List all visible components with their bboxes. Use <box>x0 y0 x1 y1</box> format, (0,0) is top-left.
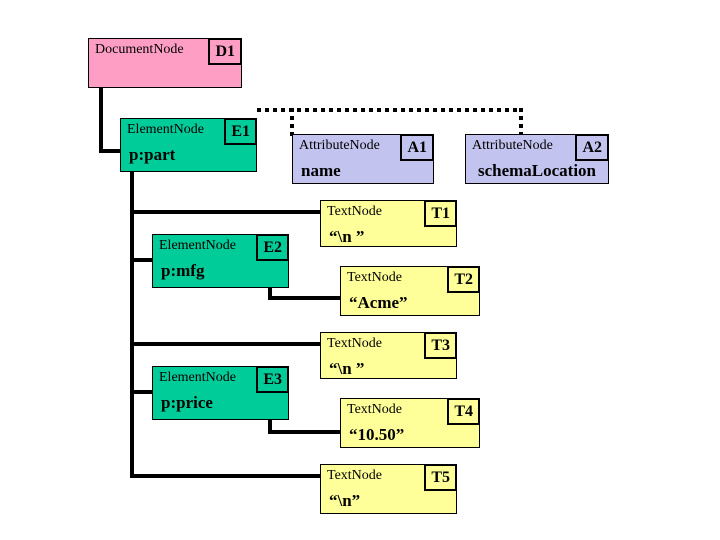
node-a2-content: schemaLocation <box>466 161 608 181</box>
node-t4-badge: T4 <box>447 398 480 425</box>
node-t4-content: “10.50” <box>349 425 404 445</box>
node-e1-type-label: ElementNode <box>127 122 204 138</box>
node-a1-badge: A1 <box>400 134 434 161</box>
node-element-e2[interactable]: ElementNode E2 p:mfg <box>152 234 289 288</box>
node-t2-header: TextNode T2 <box>341 267 479 292</box>
edge-e1-t1 <box>130 210 320 214</box>
node-t1-content: “\n ” <box>329 227 364 247</box>
edge-e1-e3 <box>130 390 153 394</box>
node-d1-type-label: DocumentNode <box>95 42 184 58</box>
node-a1-content: name <box>301 161 341 181</box>
node-d1-header: DocumentNode D1 <box>89 39 241 64</box>
node-t3-type-label: TextNode <box>327 336 382 352</box>
node-t3-content: “\n ” <box>329 359 364 379</box>
node-attribute-a1[interactable]: AttributeNode A1 name <box>292 134 434 184</box>
node-t1-header: TextNode T1 <box>321 201 456 226</box>
node-t5-content: “\n” <box>329 491 360 511</box>
node-d1-badge: D1 <box>208 38 242 65</box>
node-t4-type-label: TextNode <box>347 402 402 418</box>
node-t1-type-label: TextNode <box>327 204 382 220</box>
edge-e1-trunk <box>130 172 134 478</box>
node-t5-badge: T5 <box>424 464 457 491</box>
node-a2-type-label: AttributeNode <box>472 138 553 154</box>
edge-e1-a1-stub <box>290 108 294 136</box>
dom-tree-diagram: DocumentNode D1 ElementNode E1 p:part At… <box>0 0 720 540</box>
edge-e3-t4-horizontal <box>268 430 341 434</box>
node-text-t4[interactable]: TextNode T4 “10.50” <box>340 398 480 448</box>
node-t3-badge: T3 <box>424 332 457 359</box>
node-e1-badge: E1 <box>224 118 257 145</box>
node-e2-badge: E2 <box>256 234 289 261</box>
node-text-t3[interactable]: TextNode T3 “\n ” <box>320 332 457 379</box>
edge-e1-t3 <box>130 342 320 346</box>
node-e3-header: ElementNode E3 <box>153 367 288 392</box>
edge-e1-e2 <box>130 258 153 262</box>
node-text-t2[interactable]: TextNode T2 “Acme” <box>340 266 480 316</box>
node-e2-content: p:mfg <box>161 261 204 281</box>
edge-d1-e1-horizontal <box>99 149 122 153</box>
node-document-d1[interactable]: DocumentNode D1 <box>88 38 242 88</box>
edge-e2-t2-horizontal <box>268 296 341 300</box>
node-t2-badge: T2 <box>447 266 480 293</box>
node-t5-type-label: TextNode <box>327 468 382 484</box>
node-text-t5[interactable]: TextNode T5 “\n” <box>320 464 457 514</box>
node-t1-badge: T1 <box>424 200 457 227</box>
node-text-t1[interactable]: TextNode T1 “\n ” <box>320 200 457 247</box>
node-e2-type-label: ElementNode <box>159 238 236 254</box>
edge-e1-attributes-spine <box>257 108 523 112</box>
node-t5-header: TextNode T5 <box>321 465 456 490</box>
node-e1-header: ElementNode E1 <box>121 119 256 144</box>
node-a2-badge: A2 <box>575 134 609 161</box>
node-e3-content: p:price <box>161 393 213 413</box>
edge-e1-a2-stub <box>519 108 523 136</box>
node-a1-header: AttributeNode A1 <box>293 135 433 160</box>
node-t3-header: TextNode T3 <box>321 333 456 358</box>
edge-d1-e1-vertical <box>99 88 103 152</box>
node-e1-content: p:part <box>129 145 175 165</box>
node-a2-header: AttributeNode A2 <box>466 135 608 160</box>
node-e3-type-label: ElementNode <box>159 370 236 386</box>
node-a1-type-label: AttributeNode <box>299 138 380 154</box>
edge-e1-t5 <box>130 474 320 478</box>
node-element-e3[interactable]: ElementNode E3 p:price <box>152 366 289 420</box>
node-t4-header: TextNode T4 <box>341 399 479 424</box>
node-attribute-a2[interactable]: AttributeNode A2 schemaLocation <box>465 134 609 184</box>
node-e2-header: ElementNode E2 <box>153 235 288 260</box>
node-e3-badge: E3 <box>256 366 289 393</box>
node-t2-type-label: TextNode <box>347 270 402 286</box>
node-element-e1[interactable]: ElementNode E1 p:part <box>120 118 257 172</box>
node-t2-content: “Acme” <box>349 293 408 313</box>
